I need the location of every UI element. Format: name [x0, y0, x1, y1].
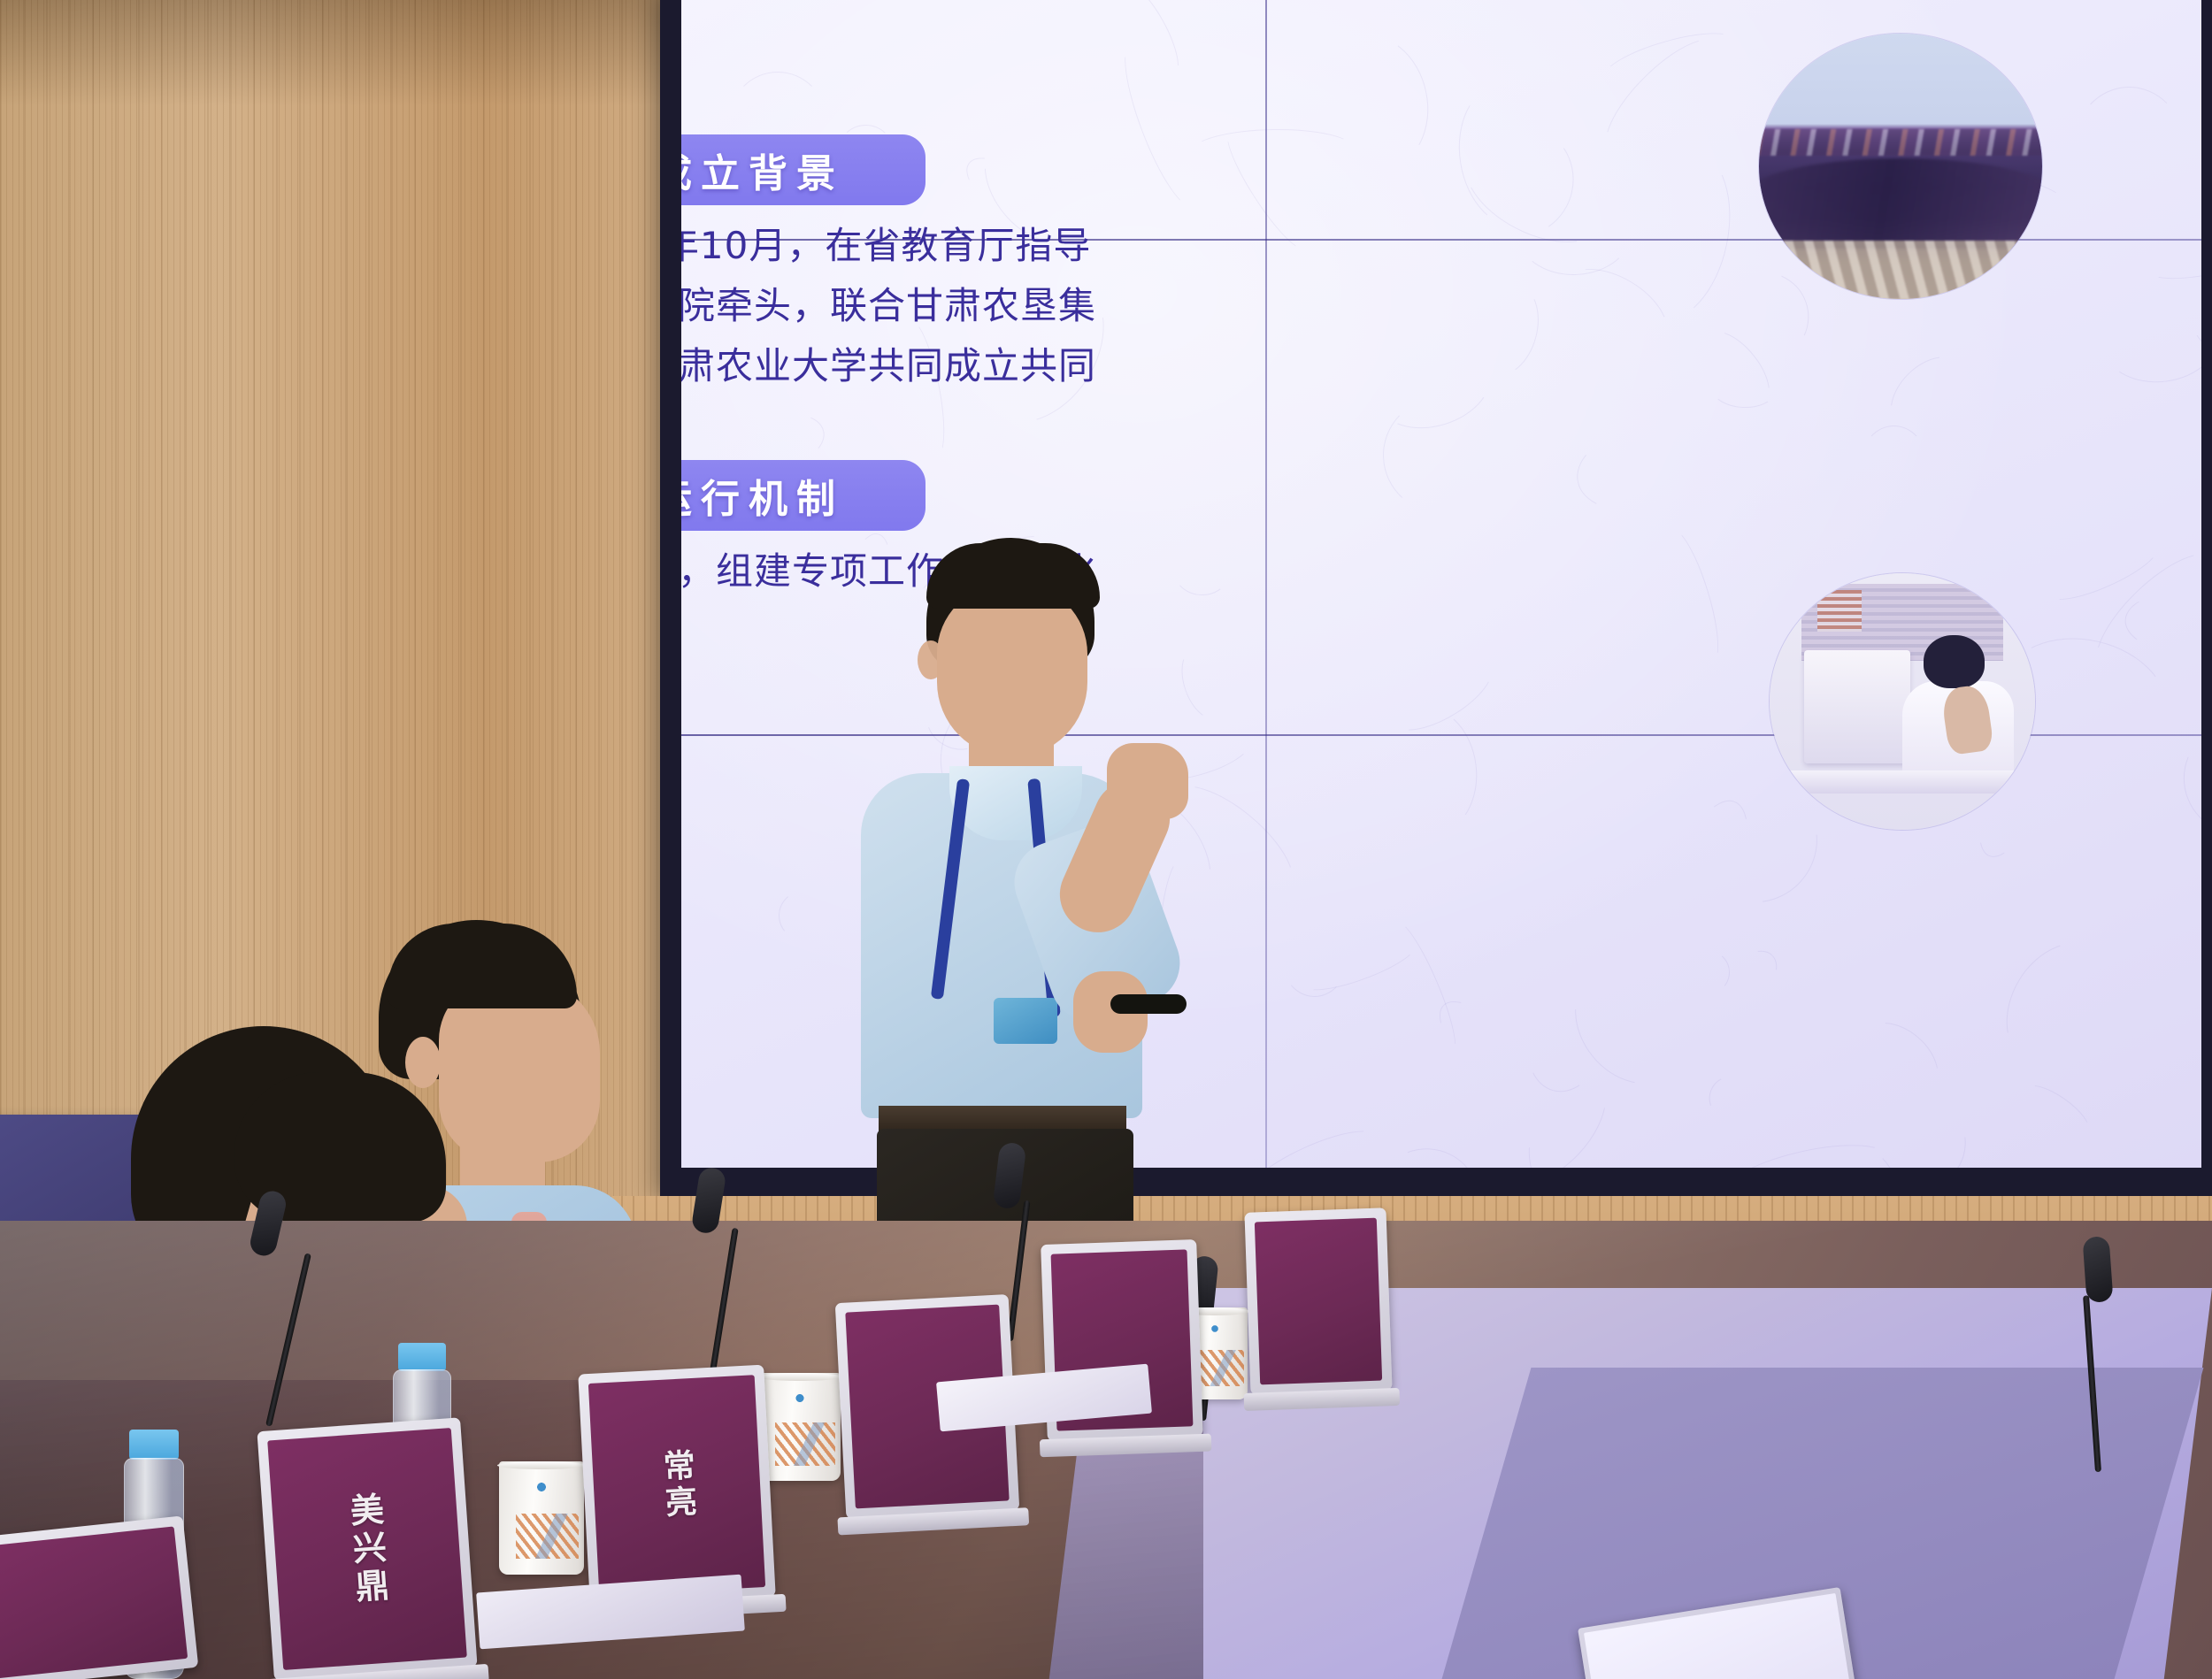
- slide-heading-pill-background: 成立背景: [681, 134, 926, 205]
- nameplate-2-text: 常亮: [652, 1448, 702, 1523]
- slide-body-text-background: 2023年10月，在省教育厅指导下，我院牵头，联合甘肃农垦集团、甘肃农业大学共同…: [681, 216, 1114, 456]
- presenter-hair-top: [926, 543, 1100, 609]
- nameplate-6[interactable]: [0, 1515, 198, 1679]
- slide-photo-field: [1759, 34, 2042, 299]
- attendee-man-hair-top: [388, 924, 577, 1008]
- slide-heading-text-mechanism: 运行机制: [681, 467, 844, 524]
- slide-heading-pill-mechanism: 运行机制: [681, 460, 926, 531]
- slide-photo-office: [1770, 573, 2035, 830]
- presenter-ear: [918, 640, 944, 679]
- conference-room-scene: 成立背景 2023年10月，在省教育厅指导下，我院牵头，联合甘肃农垦集团、甘肃农…: [0, 0, 2212, 1679]
- person-presenter: [845, 538, 1234, 1237]
- nameplate-2[interactable]: 常亮: [578, 1365, 775, 1606]
- nameplate-5[interactable]: [1244, 1207, 1392, 1394]
- presenter-badge: [994, 998, 1057, 1044]
- student-desk-image: [1770, 573, 2035, 830]
- presenter-clicker: [1110, 994, 1187, 1014]
- paper-cup-2: [759, 1373, 841, 1481]
- presenter-hand: [1107, 743, 1188, 819]
- panel-seam-vertical-1: [1265, 0, 1267, 1168]
- paper-cup-1: [499, 1461, 584, 1575]
- field-landscape-image: [1759, 34, 2042, 299]
- nameplate-1-text: 美兴鼎: [339, 1491, 396, 1608]
- presenter-face: [937, 584, 1087, 757]
- nameplate-1[interactable]: 美兴鼎: [257, 1417, 477, 1679]
- slide-heading-text-background: 成立背景: [681, 142, 844, 198]
